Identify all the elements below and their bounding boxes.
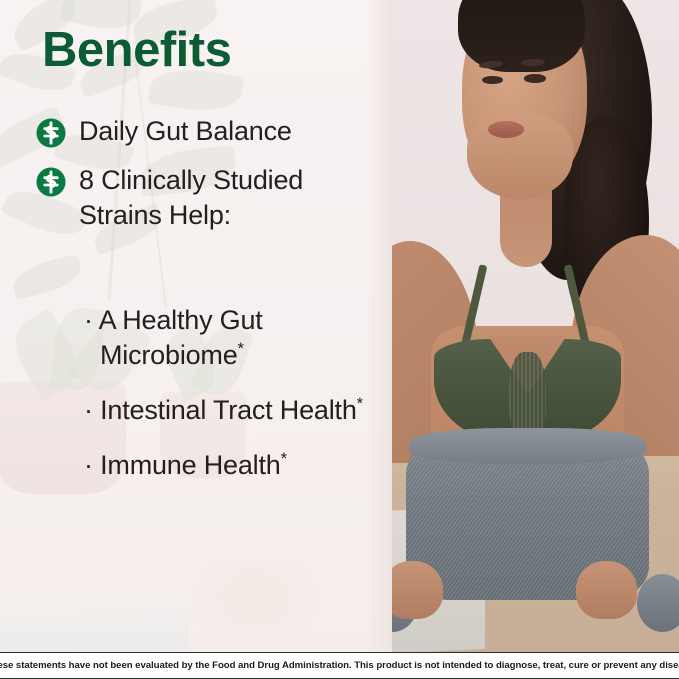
asterisk-marker: * (238, 339, 244, 358)
list-item: · Immune Health* (84, 448, 384, 483)
asterisk-marker: * (357, 394, 363, 413)
product-benefits-image: Benefits Daily Gut Balance (0, 0, 679, 679)
benefit-label: 8 Clinically Studied Strains Help: (79, 163, 319, 233)
list-item: · Intestinal Tract Health* (84, 393, 384, 428)
sub-benefit-label: Immune Health (100, 450, 280, 480)
gut-health-icon (36, 167, 66, 197)
page-title: Benefits (42, 26, 231, 75)
model-hand-right (576, 561, 637, 620)
gut-health-icon (36, 118, 66, 148)
sub-benefit-label: Intestinal Tract Health (100, 395, 357, 425)
list-item: 8 Clinically Studied Strains Help: (36, 163, 376, 233)
bullet-dot: · (84, 450, 93, 480)
benefits-content: Benefits Daily Gut Balance (0, 0, 392, 652)
model-eye-left (482, 76, 503, 84)
list-item: · A Healthy Gut Microbiome* (84, 303, 384, 373)
benefits-list: Daily Gut Balance 8 Clinically Studied S… (36, 114, 376, 247)
lifestyle-photo (376, 0, 679, 652)
list-item: Daily Gut Balance (36, 114, 376, 149)
sub-benefits-list: · A Healthy Gut Microbiome* · Intestinal… (84, 303, 384, 503)
model-eye-right (524, 74, 545, 82)
leggings-waistband (409, 428, 645, 464)
disclaimer-bar: *These statements have not been evaluate… (0, 652, 679, 679)
sub-benefit-label: A Healthy Gut Microbiome (99, 305, 263, 370)
benefit-label: Daily Gut Balance (79, 114, 292, 149)
asterisk-marker: * (281, 449, 287, 468)
bullet-dot: · (84, 395, 93, 425)
bullet-dot: · (84, 305, 93, 335)
disclaimer-text: *These statements have not been evaluate… (0, 660, 679, 671)
